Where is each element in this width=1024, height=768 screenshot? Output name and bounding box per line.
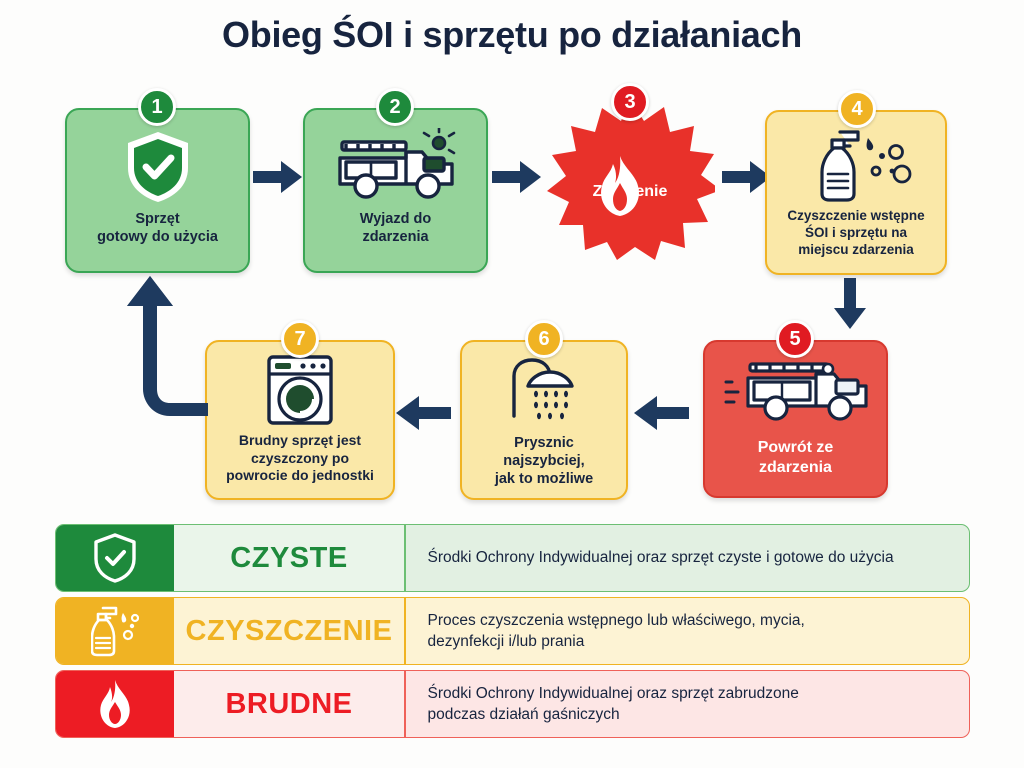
step-label-5: Powrót ze zdarzenia xyxy=(752,438,840,478)
step-card-2[interactable]: Wyjazd do zdarzenia xyxy=(303,108,488,273)
legend-row-clean: CZYSTE Środki Ochrony Indywidualnej oraz… xyxy=(55,524,970,592)
arrow-step4-to-step5 xyxy=(833,278,867,330)
fire-truck-returning-icon xyxy=(722,356,870,428)
fire-truck-icon xyxy=(336,128,456,206)
arrow-step2-to-step3 xyxy=(492,160,542,194)
arrow-step7-to-step1-return xyxy=(110,268,210,420)
step-label-7: Brudny sprzęt jest czyszczony po powroci… xyxy=(220,432,380,485)
legend-desc-cleaning: Proces czyszczenia wstępnego lub właściw… xyxy=(406,598,970,664)
step-badge-1: 1 xyxy=(138,88,176,126)
arrow-step6-to-step7 xyxy=(395,395,451,431)
flame-icon xyxy=(56,671,174,737)
step-card-7[interactable]: Brudny sprzęt jest czyszczony po powroci… xyxy=(205,340,395,500)
step-badge-3: 3 xyxy=(611,83,649,121)
step-label-2: Wyjazd do zdarzenia xyxy=(354,210,437,246)
step-badge-6: 6 xyxy=(525,320,563,358)
arrow-step1-to-step2 xyxy=(253,160,303,194)
step-card-6[interactable]: Prysznic najszybciej, jak to możliwe xyxy=(460,340,628,500)
shield-check-icon xyxy=(56,525,174,591)
legend-title-cleaning: CZYSZCZENIE xyxy=(174,598,404,664)
infographic-canvas: Obieg ŚOI i sprzętu po działaniach Sprzę… xyxy=(0,0,1024,768)
legend-row-dirty: BRUDNE Środki Ochrony Indywidualnej oraz… xyxy=(55,670,970,738)
step-card-5[interactable]: Powrót ze zdarzenia xyxy=(703,340,888,498)
step-badge-4: 4 xyxy=(838,90,876,128)
spray-bottle-icon xyxy=(796,126,916,202)
legend-title-dirty: BRUDNE xyxy=(174,671,404,737)
step-badge-2: 2 xyxy=(376,88,414,126)
shower-icon xyxy=(506,354,582,428)
step-badge-7: 7 xyxy=(281,320,319,358)
step-label-6: Prysznic najszybciej, jak to możliwe xyxy=(489,434,599,488)
arrow-step5-to-step6 xyxy=(633,395,689,431)
legend-desc-dirty: Środki Ochrony Indywidualnej oraz sprzęt… xyxy=(406,671,970,737)
step-card-4[interactable]: Czyszczenie wstępne ŚOI i sprzętu na mie… xyxy=(765,110,947,275)
legend-row-cleaning: CZYSZCZENIE Proces czyszczenia wstępnego… xyxy=(55,597,970,665)
step-card-1[interactable]: Sprzęt gotowy do użycia xyxy=(65,108,250,273)
washing-machine-icon xyxy=(266,354,334,426)
legend-desc-clean: Środki Ochrony Indywidualnej oraz sprzęt… xyxy=(406,525,970,591)
page-title: Obieg ŚOI i sprzętu po działaniach xyxy=(0,14,1024,56)
step-badge-5: 5 xyxy=(776,320,814,358)
legend-title-clean: CZYSTE xyxy=(174,525,404,591)
spray-bottle-icon xyxy=(56,598,174,664)
step-label-4: Czyszczenie wstępne ŚOI i sprzętu na mie… xyxy=(781,208,930,259)
step-label-1: Sprzęt gotowy do użycia xyxy=(91,210,224,246)
shield-check-icon xyxy=(122,128,194,206)
